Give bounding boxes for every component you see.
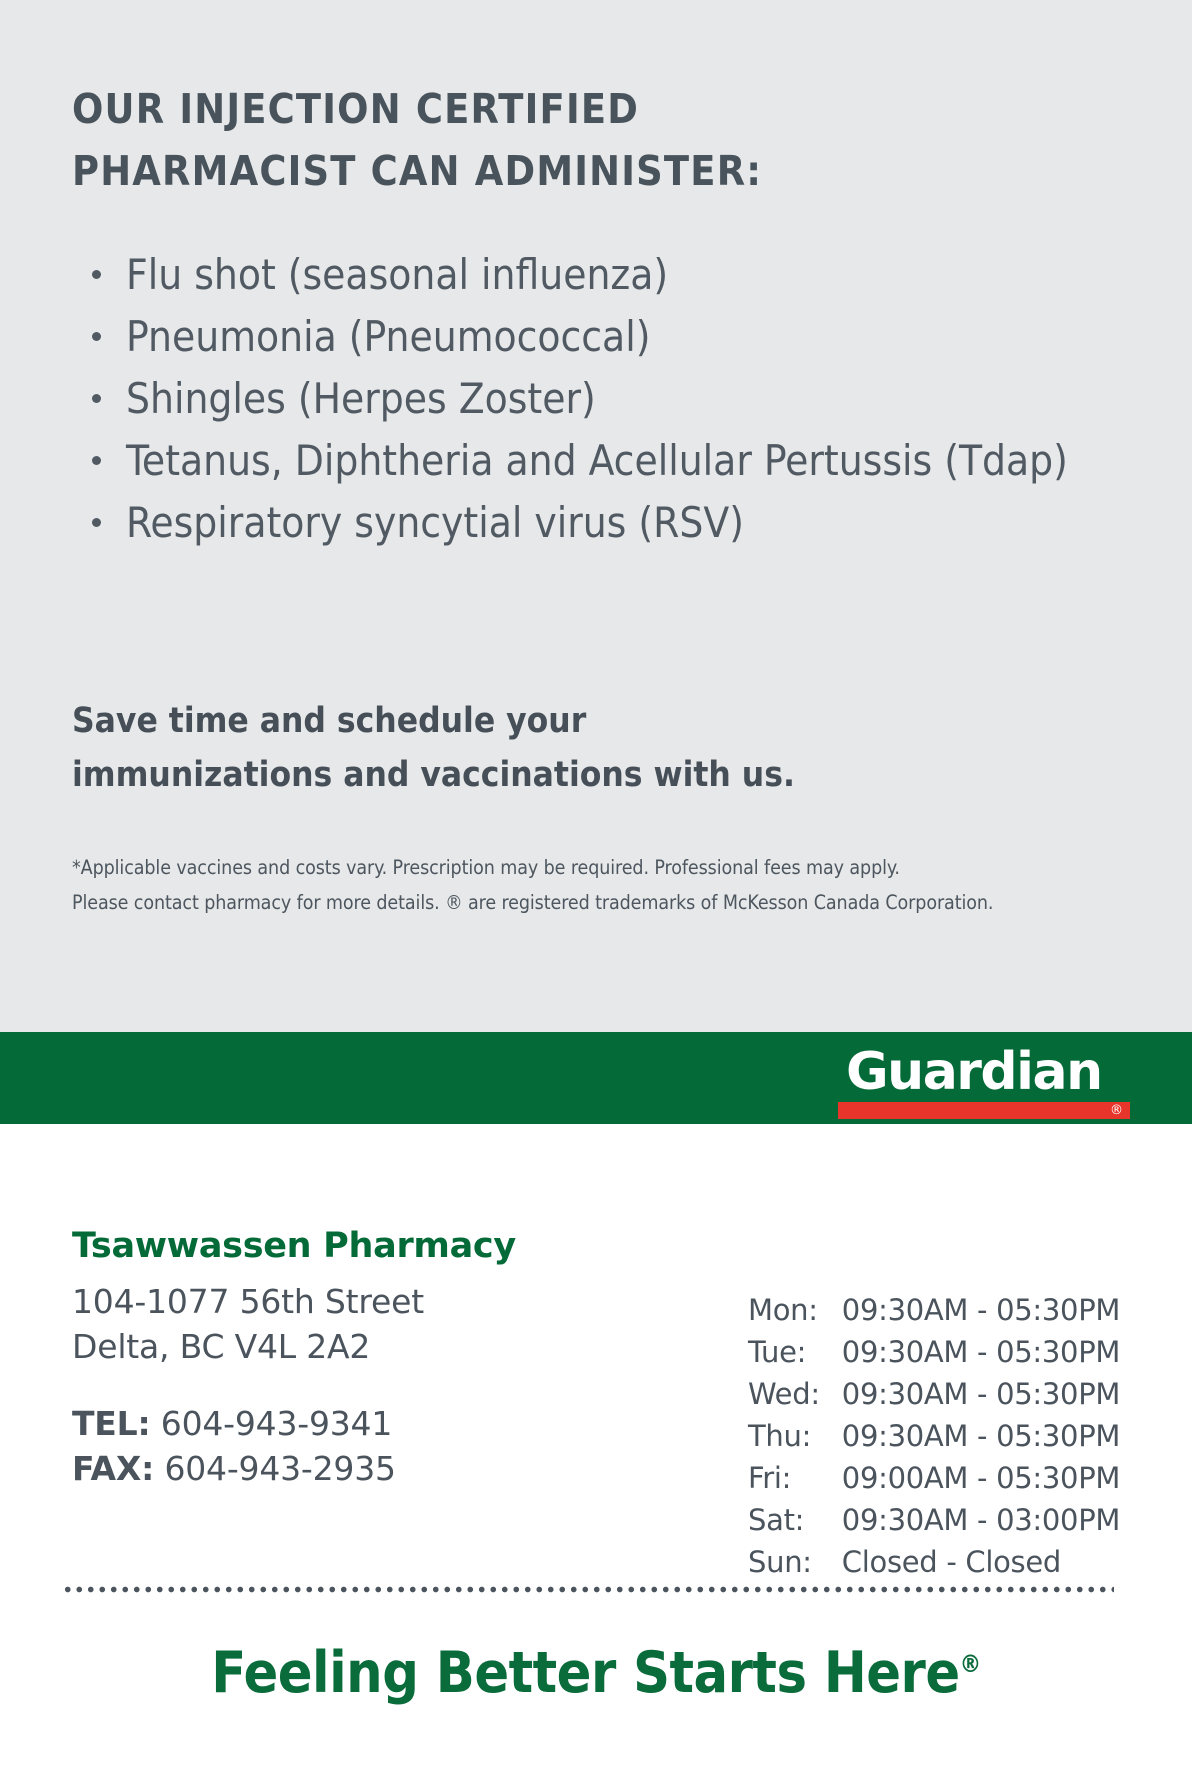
page-title: OUR INJECTION CERTIFIED PHARMACIST CAN A… (72, 78, 852, 202)
hours-day-label: Sun: (748, 1541, 842, 1583)
store-hours-table: Mon: 09:30AM - 05:30PM Tue: 09:30AM - 05… (748, 1289, 1120, 1583)
brand-tagline-text: Feeling Better Starts Here (211, 1640, 959, 1706)
table-row: Tue: 09:30AM - 05:30PM (748, 1331, 1120, 1373)
list-item: Respiratory syncytial virus (RSV) (72, 492, 1072, 554)
hours-time-value: 09:30AM - 05:30PM (842, 1331, 1120, 1373)
bullet-icon (92, 456, 101, 465)
hours-time-value: 09:30AM - 03:00PM (842, 1499, 1120, 1541)
table-row: Sun: Closed - Closed (748, 1541, 1120, 1583)
telephone-value: 604-943-9341 (161, 1404, 392, 1443)
fax-label: FAX: (72, 1449, 154, 1488)
disclaimer: *Applicable vaccines and costs vary. Pre… (72, 850, 1132, 920)
registered-trademark-icon: ® (960, 1650, 981, 1678)
brand-bar: Guardian ® (0, 1032, 1192, 1124)
store-name: Tsawwassen Pharmacy (72, 1221, 632, 1271)
list-item-label: Shingles (Herpes Zoster) (126, 374, 596, 423)
hours-time-value: 09:30AM - 05:30PM (842, 1415, 1120, 1457)
brand-tagline: Feeling Better Starts Here® (0, 1624, 1192, 1713)
page-title-line-1: OUR INJECTION CERTIFIED (72, 78, 852, 140)
bullet-icon (92, 394, 101, 403)
hours-time-value: 09:00AM - 05:30PM (842, 1457, 1120, 1499)
table-row: Thu: 09:30AM - 05:30PM (748, 1415, 1120, 1457)
fax-value: 604-943-2935 (164, 1449, 395, 1488)
pharmacy-flyer: OUR INJECTION CERTIFIED PHARMACIST CAN A… (0, 0, 1192, 1785)
list-item-label: Flu shot (seasonal influenza) (126, 250, 668, 299)
store-info-panel: Tsawwassen Pharmacy 104-1077 56th Street… (0, 1124, 1192, 1785)
list-item-label: Respiratory syncytial virus (RSV) (126, 498, 744, 547)
hours-day-label: Thu: (748, 1415, 842, 1457)
bullet-icon (92, 332, 101, 341)
bullet-icon (92, 270, 101, 279)
hours-day-label: Sat: (748, 1499, 842, 1541)
store-contact: TEL: 604-943-9341 FAX: 604-943-2935 (72, 1401, 632, 1491)
bullet-icon (92, 518, 101, 527)
store-fax: FAX: 604-943-2935 (72, 1446, 632, 1491)
hours-time-value: 09:30AM - 05:30PM (842, 1373, 1120, 1415)
schedule-callout-line-2: immunizations and vaccinations with us. (72, 748, 872, 802)
hours-day-label: Mon: (748, 1289, 842, 1331)
page-title-line-2: PHARMACIST CAN ADMINISTER: (72, 140, 852, 202)
vaccine-list: Flu shot (seasonal influenza) Pneumonia … (72, 244, 1072, 554)
table-row: Mon: 09:30AM - 05:30PM (748, 1289, 1120, 1331)
hours-time-value: 09:30AM - 05:30PM (842, 1289, 1120, 1331)
guardian-underline-bar: ® (838, 1102, 1130, 1119)
table-row: Sat: 09:30AM - 03:00PM (748, 1499, 1120, 1541)
hours-day-label: Wed: (748, 1373, 842, 1415)
schedule-callout-line-1: Save time and schedule your (72, 694, 872, 748)
store-details: Tsawwassen Pharmacy 104-1077 56th Street… (72, 1221, 632, 1491)
list-item: Shingles (Herpes Zoster) (72, 368, 1072, 430)
store-telephone[interactable]: TEL: 604-943-9341 (72, 1401, 632, 1446)
guardian-logo: Guardian ® (838, 1044, 1130, 1119)
list-item: Flu shot (seasonal influenza) (72, 244, 1072, 306)
store-address-line-2: Delta, BC V4L 2A2 (72, 1324, 632, 1369)
schedule-callout: Save time and schedule your immunization… (72, 694, 872, 802)
immunization-panel: OUR INJECTION CERTIFIED PHARMACIST CAN A… (0, 0, 1192, 1032)
hours-day-label: Tue: (748, 1331, 842, 1373)
guardian-wordmark: Guardian (838, 1044, 1130, 1100)
list-item: Pneumonia (Pneumococcal) (72, 306, 1072, 368)
disclaimer-line-2: Please contact pharmacy for more details… (72, 885, 1132, 920)
table-row: Fri: 09:00AM - 05:30PM (748, 1457, 1120, 1499)
store-address-line-1: 104-1077 56th Street (72, 1279, 632, 1324)
registered-trademark-icon: ® (1110, 1103, 1123, 1118)
list-item-label: Pneumonia (Pneumococcal) (126, 312, 650, 361)
list-item: Tetanus, Diphtheria and Acellular Pertus… (72, 430, 1072, 492)
dotted-divider (62, 1586, 1114, 1593)
telephone-label: TEL: (72, 1404, 150, 1443)
list-item-label: Tetanus, Diphtheria and Acellular Pertus… (126, 436, 1068, 485)
hours-time-value: Closed - Closed (842, 1541, 1120, 1583)
store-address: 104-1077 56th Street Delta, BC V4L 2A2 (72, 1279, 632, 1369)
hours-day-label: Fri: (748, 1457, 842, 1499)
disclaimer-line-1: *Applicable vaccines and costs vary. Pre… (72, 850, 1132, 885)
table-row: Wed: 09:30AM - 05:30PM (748, 1373, 1120, 1415)
